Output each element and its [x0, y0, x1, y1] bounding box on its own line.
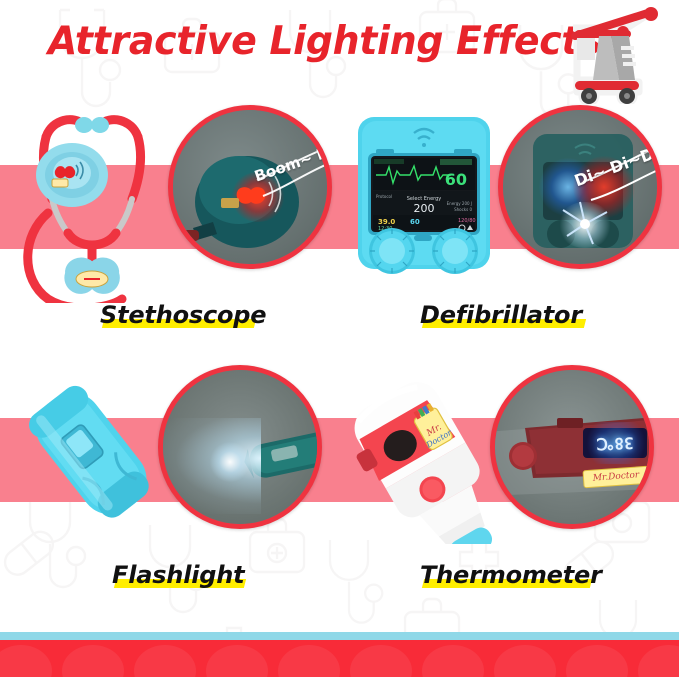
- svg-text:60: 60: [410, 218, 420, 226]
- svg-text:39.0: 39.0: [378, 218, 395, 226]
- thermometer-product-image: Mr. Doctor: [348, 374, 498, 544]
- infographic-page: Attractive Lighting Effects: [0, 0, 679, 677]
- caption-thermometer-label: Thermometer: [420, 561, 602, 589]
- product-cell-flashlight: Flashlight: [0, 360, 340, 618]
- svg-text:200: 200: [414, 202, 435, 215]
- product-cell-thermometer: Mr. Doctor 38℃ Mr.D: [340, 360, 679, 618]
- stethoscope-zoom-inset: Boom~ Boom~: [168, 105, 332, 269]
- svg-text:Energy 200 J: Energy 200 J: [447, 201, 472, 206]
- stethoscope-product-image: [12, 103, 172, 303]
- svg-text:Protocol: Protocol: [376, 194, 392, 199]
- caption-flashlight-label: Flashlight: [112, 561, 244, 589]
- caption-thermometer: Thermometer: [420, 561, 602, 589]
- svg-text:120/80: 120/80: [458, 218, 476, 224]
- defibrillator-product-image: 60 Select Energy 200 Protocol Energy 200…: [354, 115, 494, 275]
- page-title: Attractive Lighting Effects: [48, 19, 601, 64]
- thermometer-zoom-inset: 38℃ Mr.Doctor: [490, 365, 654, 529]
- medical-crash-cart-icon: [559, 6, 663, 104]
- thermometer-display-value: 38℃: [587, 429, 644, 457]
- caption-stethoscope: Stethoscope: [100, 301, 266, 329]
- caption-defibrillator: Defibrillator: [420, 301, 582, 329]
- flashlight-product-image: [10, 372, 170, 532]
- product-cell-defibrillator: 60 Select Energy 200 Protocol Energy 200…: [340, 100, 679, 358]
- footer-red-band: [0, 640, 679, 677]
- footer-cyan-stripe: [0, 632, 679, 640]
- flashlight-led-core: [209, 442, 251, 482]
- defibrillator-zoom-inset: Di~ Di~Di~: [498, 105, 662, 269]
- product-cell-stethoscope: Boom~ Boom~ Stethoscope: [0, 100, 340, 358]
- caption-flashlight: Flashlight: [112, 561, 244, 589]
- svg-text:Shocks 0: Shocks 0: [454, 207, 472, 212]
- svg-text:60: 60: [445, 170, 467, 189]
- caption-defibrillator-label: Defibrillator: [420, 301, 582, 329]
- flashlight-zoom-inset: [158, 365, 322, 529]
- caption-stethoscope-label: Stethoscope: [100, 301, 266, 329]
